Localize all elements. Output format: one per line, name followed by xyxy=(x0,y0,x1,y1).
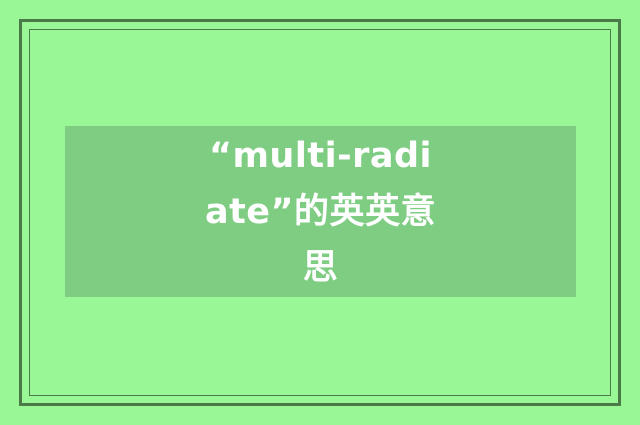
image-canvas: “multi-radiate”的英英意思 xyxy=(0,0,640,425)
caption-panel: “multi-radiate”的英英意思 xyxy=(65,126,576,297)
caption-title-text: “multi-radiate”的英英意思 xyxy=(203,128,439,296)
